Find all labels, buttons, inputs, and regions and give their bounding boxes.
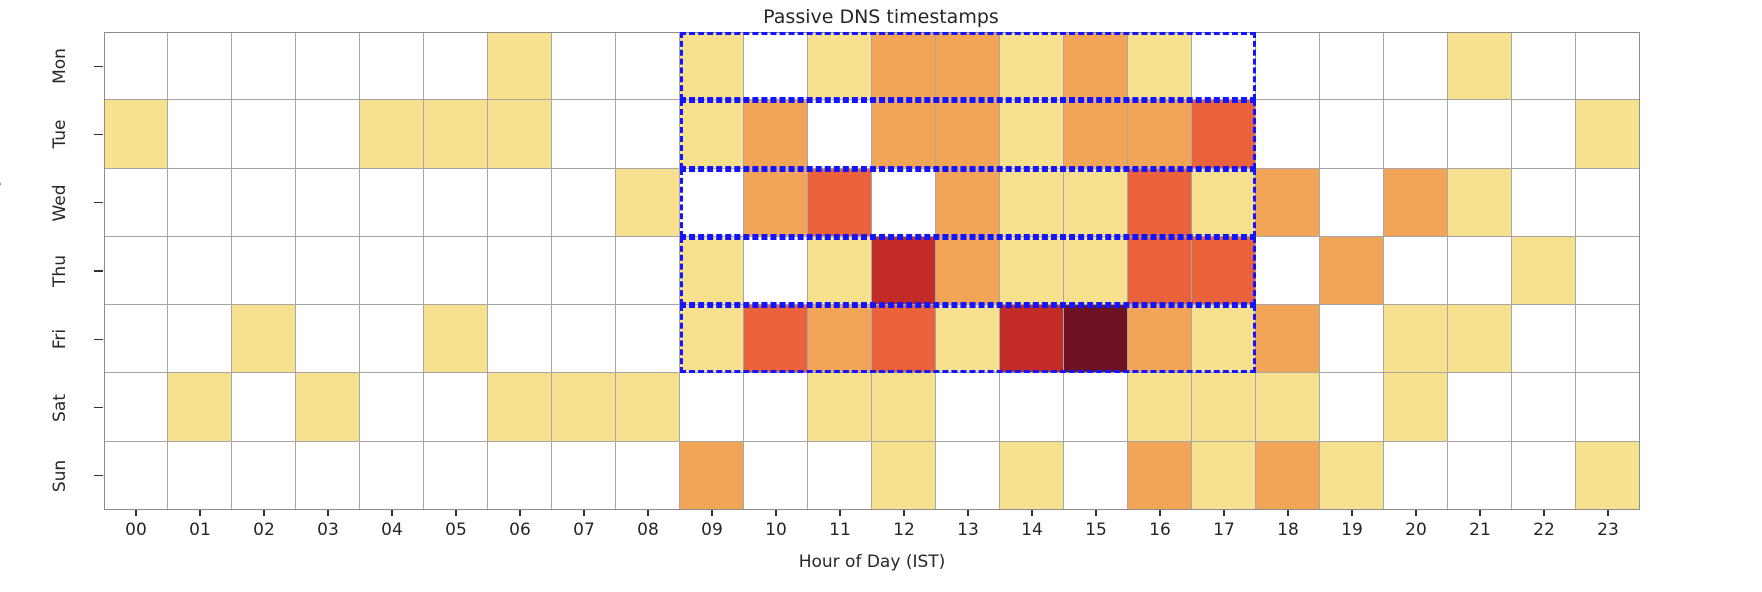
heatmap-cell: [680, 100, 744, 168]
heatmap-cell: [1256, 100, 1320, 168]
x-axis-tick: [967, 510, 968, 516]
heatmap-cell: [616, 373, 680, 441]
heatmap-grid: [104, 32, 1640, 510]
heatmap-cell: [1000, 305, 1064, 373]
heatmap-cell: [936, 100, 1000, 168]
heatmap-cell: [552, 169, 616, 237]
heatmap-cell: [744, 442, 808, 510]
heatmap-cell: [1320, 305, 1384, 373]
heatmap-cell: [1000, 32, 1064, 100]
heatmap-cell: [1128, 32, 1192, 100]
y-axis-tick: [94, 134, 103, 135]
heatmap-cell: [360, 237, 424, 305]
heatmap-cell: [424, 305, 488, 373]
heatmap-cell: [1320, 100, 1384, 168]
heatmap-cell: [1320, 32, 1384, 100]
heatmap-cell: [1064, 32, 1128, 100]
heatmap-cell: [808, 169, 872, 237]
heatmap-cell: [1128, 442, 1192, 510]
heatmap-cell: [872, 169, 936, 237]
heatmap-cell: [808, 32, 872, 100]
heatmap-cell: [1384, 305, 1448, 373]
heatmap-cell: [1192, 305, 1256, 373]
heatmap-cell: [1512, 442, 1576, 510]
x-axis-tick-label: 04: [362, 520, 422, 540]
heatmap-cell: [168, 32, 232, 100]
heatmap-cell: [1320, 373, 1384, 441]
x-axis-tick: [1607, 510, 1608, 516]
x-axis-tick: [1287, 510, 1288, 516]
x-axis-tick: [519, 510, 520, 516]
heatmap-cell: [680, 237, 744, 305]
heatmap-cell: [1448, 100, 1512, 168]
x-axis-tick: [711, 510, 712, 516]
heatmap-cell: [168, 100, 232, 168]
y-axis-tick: [94, 339, 103, 340]
heatmap-cell: [872, 373, 936, 441]
y-axis-tick: [94, 270, 103, 271]
heatmap-cell: [1320, 169, 1384, 237]
heatmap-cell: [1000, 100, 1064, 168]
heatmap-cell: [232, 442, 296, 510]
x-axis-tick-label: 23: [1578, 520, 1638, 540]
x-axis-tick-label: 05: [426, 520, 486, 540]
heatmap-cell: [104, 100, 168, 168]
x-axis-tick: [1223, 510, 1224, 516]
plot-area: MonTueWedThuFriSatSun 000102030405060708…: [104, 32, 1640, 510]
heatmap-cell: [424, 373, 488, 441]
heatmap-cell: [552, 305, 616, 373]
heatmap-cell: [744, 373, 808, 441]
heatmap-cell: [1576, 442, 1640, 510]
heatmap-cell: [1512, 373, 1576, 441]
heatmap-cell: [872, 442, 936, 510]
y-axis-tick-label: Sat: [50, 386, 70, 430]
heatmap-cell: [1576, 32, 1640, 100]
heatmap-cell: [1320, 442, 1384, 510]
heatmap-cell: [616, 305, 680, 373]
heatmap-cell: [1064, 169, 1128, 237]
x-axis-tick-label: 09: [682, 520, 742, 540]
x-axis-tick: [839, 510, 840, 516]
heatmap-cell: [936, 169, 1000, 237]
heatmap-cell: [360, 442, 424, 510]
x-axis-tick-label: 13: [938, 520, 998, 540]
heatmap-cell: [872, 32, 936, 100]
x-axis-tick-label: 03: [298, 520, 358, 540]
x-axis-tick-label: 18: [1258, 520, 1318, 540]
heatmap-cell: [872, 305, 936, 373]
heatmap-cell: [1512, 32, 1576, 100]
heatmap-cell: [360, 100, 424, 168]
heatmap-cell: [808, 373, 872, 441]
heatmap-cell: [744, 100, 808, 168]
x-axis-tick: [1351, 510, 1352, 516]
heatmap-cell: [296, 169, 360, 237]
heatmap-cell: [1448, 32, 1512, 100]
heatmap-cell: [424, 100, 488, 168]
heatmap-cell: [936, 237, 1000, 305]
heatmap-cell: [1000, 442, 1064, 510]
heatmap-cell: [1448, 373, 1512, 441]
heatmap-cell: [680, 373, 744, 441]
x-axis-tick-label: 14: [1002, 520, 1062, 540]
heatmap-cell: [424, 169, 488, 237]
x-axis-tick-label: 02: [234, 520, 294, 540]
heatmap-cell: [360, 32, 424, 100]
heatmap-cell: [552, 32, 616, 100]
heatmap-cell: [168, 169, 232, 237]
heatmap-cell: [488, 373, 552, 441]
x-axis-tick-label: 10: [746, 520, 806, 540]
x-axis-tick: [1031, 510, 1032, 516]
heatmap-cell: [1256, 169, 1320, 237]
heatmap-cell: [680, 169, 744, 237]
x-axis-tick-label: 16: [1130, 520, 1190, 540]
heatmap-cell: [680, 305, 744, 373]
heatmap-cell: [1576, 100, 1640, 168]
heatmap-cell: [1192, 100, 1256, 168]
x-axis-tick-label: 08: [618, 520, 678, 540]
heatmap-cell: [360, 305, 424, 373]
heatmap-cell: [1512, 100, 1576, 168]
heatmap-cell: [296, 237, 360, 305]
x-axis-tick: [1095, 510, 1096, 516]
heatmap-cell: [1576, 169, 1640, 237]
heatmap-cell: [1000, 237, 1064, 305]
heatmap-cell: [488, 32, 552, 100]
x-axis-tick: [135, 510, 136, 516]
heatmap-cell: [232, 237, 296, 305]
heatmap-cell: [1576, 373, 1640, 441]
heatmap-cell: [424, 237, 488, 305]
x-axis-tick: [647, 510, 648, 516]
heatmap-cell: [1192, 373, 1256, 441]
heatmap-cell: [1064, 305, 1128, 373]
heatmap-cell: [552, 237, 616, 305]
x-axis-tick: [1159, 510, 1160, 516]
heatmap-cell: [296, 100, 360, 168]
heatmap-cell: [1192, 442, 1256, 510]
heatmap-cell: [1576, 305, 1640, 373]
heatmap-cell: [744, 169, 808, 237]
y-axis-tick: [94, 66, 103, 67]
x-axis-tick-label: 20: [1386, 520, 1446, 540]
heatmap-cell: [1512, 305, 1576, 373]
heatmap-cell: [1448, 237, 1512, 305]
heatmap-cell: [296, 305, 360, 373]
heatmap-cell: [1064, 100, 1128, 168]
y-axis-tick: [94, 407, 103, 408]
heatmap-cell: [616, 237, 680, 305]
heatmap-cell: [1384, 169, 1448, 237]
heatmap-cell: [1000, 169, 1064, 237]
heatmap-cell: [872, 100, 936, 168]
x-axis-tick-label: 11: [810, 520, 870, 540]
heatmap-cell: [296, 442, 360, 510]
heatmap-cell: [1192, 169, 1256, 237]
x-axis-tick-label: 19: [1322, 520, 1382, 540]
heatmap-cell: [168, 237, 232, 305]
heatmap-cell: [1192, 32, 1256, 100]
x-axis-tick-label: 22: [1514, 520, 1574, 540]
heatmap-cell: [488, 169, 552, 237]
heatmap-cell: [744, 32, 808, 100]
heatmap-cell: [872, 237, 936, 305]
heatmap-cell: [1384, 442, 1448, 510]
heatmap-cell: [104, 32, 168, 100]
heatmap-figure: Passive DNS timestamps Day of Week MonTu…: [0, 0, 1762, 592]
heatmap-cell: [1384, 32, 1448, 100]
heatmap-cell: [488, 100, 552, 168]
x-axis-tick: [1415, 510, 1416, 516]
heatmap-cell: [616, 442, 680, 510]
heatmap-cell: [1128, 373, 1192, 441]
heatmap-cell: [808, 100, 872, 168]
heatmap-cell: [1448, 442, 1512, 510]
heatmap-cell: [936, 373, 1000, 441]
heatmap-cell: [1128, 305, 1192, 373]
heatmap-cell: [1384, 237, 1448, 305]
heatmap-cell: [680, 32, 744, 100]
heatmap-cell: [488, 237, 552, 305]
heatmap-cell: [616, 32, 680, 100]
y-axis-tick-label: Mon: [50, 44, 70, 88]
heatmap-cell: [808, 442, 872, 510]
x-axis-tick-label: 17: [1194, 520, 1254, 540]
heatmap-cell: [616, 100, 680, 168]
heatmap-cell: [744, 237, 808, 305]
x-axis-label: Hour of Day (IST): [104, 552, 1640, 572]
heatmap-cell: [1064, 237, 1128, 305]
heatmap-cell: [232, 100, 296, 168]
heatmap-cell: [1384, 373, 1448, 441]
heatmap-cell: [1128, 100, 1192, 168]
x-axis-tick-label: 12: [874, 520, 934, 540]
heatmap-cell: [552, 100, 616, 168]
heatmap-cell: [1448, 305, 1512, 373]
heatmap-cell: [104, 305, 168, 373]
heatmap-cell: [232, 32, 296, 100]
x-axis-tick-label: 15: [1066, 520, 1126, 540]
heatmap-cell: [808, 237, 872, 305]
heatmap-cell: [1256, 32, 1320, 100]
x-axis-tick-label: 07: [554, 520, 614, 540]
y-axis-tick-label: Fri: [50, 317, 70, 361]
heatmap-cell: [1576, 237, 1640, 305]
heatmap-cell: [936, 32, 1000, 100]
y-axis-tick-label: Thu: [50, 249, 70, 293]
heatmap-cell: [168, 442, 232, 510]
heatmap-cell: [360, 169, 424, 237]
heatmap-cell: [168, 305, 232, 373]
heatmap-cell: [1448, 169, 1512, 237]
x-axis-tick: [1543, 510, 1544, 516]
heatmap-cell: [424, 32, 488, 100]
x-axis-tick: [903, 510, 904, 516]
x-axis-tick: [455, 510, 456, 516]
heatmap-cell: [1384, 100, 1448, 168]
heatmap-cell: [936, 442, 1000, 510]
heatmap-cell: [488, 305, 552, 373]
heatmap-cell: [1256, 305, 1320, 373]
x-axis-tick: [327, 510, 328, 516]
x-axis-tick-label: 06: [490, 520, 550, 540]
heatmap-cell: [104, 169, 168, 237]
heatmap-cell: [104, 373, 168, 441]
heatmap-cell: [296, 32, 360, 100]
heatmap-cell: [1256, 442, 1320, 510]
heatmap-cell: [680, 442, 744, 510]
heatmap-cell: [1064, 373, 1128, 441]
x-axis-tick: [775, 510, 776, 516]
heatmap-cell: [1256, 237, 1320, 305]
x-axis-tick: [391, 510, 392, 516]
heatmap-cell: [1512, 237, 1576, 305]
y-axis-tick-label: Wed: [50, 181, 70, 225]
y-axis-label: Day of Week: [0, 103, 2, 210]
x-axis-tick-label: 01: [170, 520, 230, 540]
heatmap-cell: [424, 442, 488, 510]
heatmap-cell: [552, 373, 616, 441]
heatmap-cell: [296, 373, 360, 441]
heatmap-cell: [232, 169, 296, 237]
heatmap-cell: [1192, 237, 1256, 305]
heatmap-cell: [232, 373, 296, 441]
heatmap-cell: [232, 305, 296, 373]
y-axis-tick-label: Sun: [50, 454, 70, 498]
heatmap-cell: [1128, 169, 1192, 237]
heatmap-cell: [488, 442, 552, 510]
y-axis-tick: [94, 202, 103, 203]
heatmap-cell: [1256, 373, 1320, 441]
x-axis-tick: [263, 510, 264, 516]
heatmap-cell: [936, 305, 1000, 373]
heatmap-cell: [1320, 237, 1384, 305]
chart-title: Passive DNS timestamps: [0, 6, 1762, 28]
heatmap-cell: [1512, 169, 1576, 237]
heatmap-cell: [104, 442, 168, 510]
heatmap-cell: [1000, 373, 1064, 441]
heatmap-cell: [1128, 237, 1192, 305]
x-axis-tick: [583, 510, 584, 516]
x-axis-tick-label: 00: [106, 520, 166, 540]
heatmap-cell: [1064, 442, 1128, 510]
heatmap-cell: [616, 169, 680, 237]
y-axis-tick-label: Tue: [50, 112, 70, 156]
x-axis-tick-label: 21: [1450, 520, 1510, 540]
y-axis-tick: [94, 475, 103, 476]
heatmap-cell: [744, 305, 808, 373]
heatmap-cell: [168, 373, 232, 441]
heatmap-cell: [104, 237, 168, 305]
heatmap-cell: [808, 305, 872, 373]
x-axis-tick: [1479, 510, 1480, 516]
x-axis-tick: [199, 510, 200, 516]
heatmap-cell: [360, 373, 424, 441]
heatmap-cell: [552, 442, 616, 510]
